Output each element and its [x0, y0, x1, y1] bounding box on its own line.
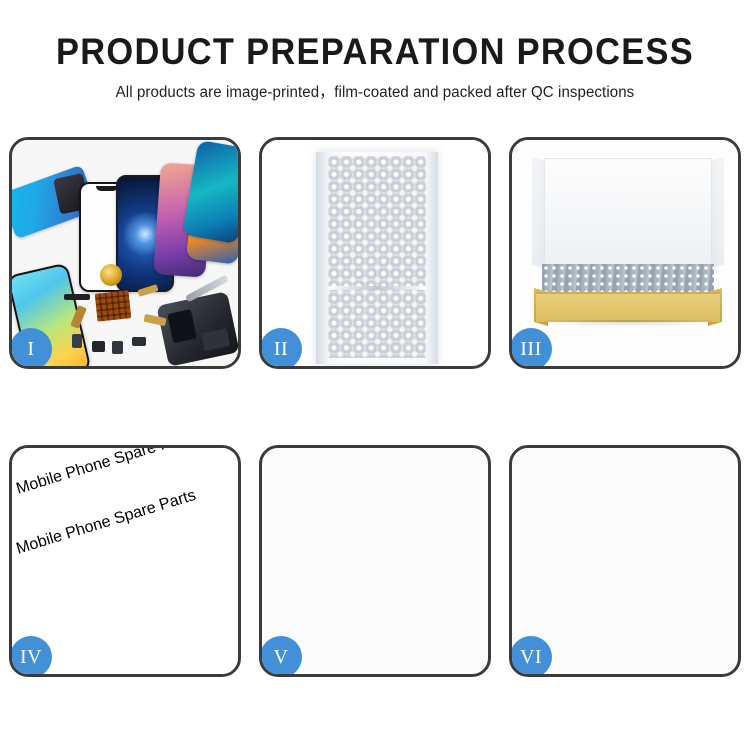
step-3-illustration — [512, 140, 738, 366]
pouch-edge-left — [316, 152, 329, 364]
pouch-seam — [328, 286, 426, 290]
mailer-lid-back — [544, 158, 712, 276]
step-badge-4: IV — [10, 636, 52, 677]
speaker-part-icon — [100, 264, 122, 286]
phone-screen-teal — [182, 140, 238, 244]
process-step-card-4[interactable]: Mobile Phone Spare Parts Mobile Phone Sp… — [9, 445, 241, 677]
page-title: PRODUCT PREPARATION PROCESS — [26, 30, 724, 74]
spare-part-item — [72, 334, 82, 348]
step-badge-3: III — [510, 328, 552, 369]
step-1-illustration — [12, 140, 238, 366]
process-step-card-3[interactable]: III — [509, 137, 741, 369]
spare-part-item — [112, 341, 123, 354]
spare-part-item — [92, 341, 105, 352]
process-step-grid: I II III — [9, 137, 741, 679]
step-badge-2: II — [260, 328, 302, 369]
step-badge-1: I — [10, 328, 52, 369]
step-badge-5: V — [260, 636, 302, 677]
step-6-illustration — [512, 448, 738, 674]
process-step-card-6[interactable]: VI — [509, 445, 741, 677]
bubble-wrap-texture — [328, 156, 426, 358]
spare-part-item — [132, 337, 146, 346]
page-subtitle: All products are image-printed，film-coat… — [11, 83, 739, 103]
step-badge-6: VI — [510, 636, 552, 677]
phone-motherboard-part — [156, 291, 238, 366]
product-preparation-infographic: PRODUCT PREPARATION PROCESS All products… — [0, 0, 750, 750]
pouch-edge-right — [425, 152, 438, 364]
flex-cable-chip-part — [95, 290, 132, 321]
spare-part-item — [64, 294, 90, 300]
mailer-box-front — [536, 292, 720, 322]
step-5-illustration — [262, 448, 488, 674]
step-4-illustration: Mobile Phone Spare Parts Mobile Phone Sp… — [12, 448, 238, 674]
step-2-illustration — [262, 140, 488, 366]
process-step-card-2[interactable]: II — [259, 137, 491, 369]
drop-shadow — [538, 320, 718, 327]
header: PRODUCT PREPARATION PROCESS All products… — [0, 0, 750, 103]
process-step-card-1[interactable]: I — [9, 137, 241, 369]
process-step-card-5[interactable]: V — [259, 445, 491, 677]
